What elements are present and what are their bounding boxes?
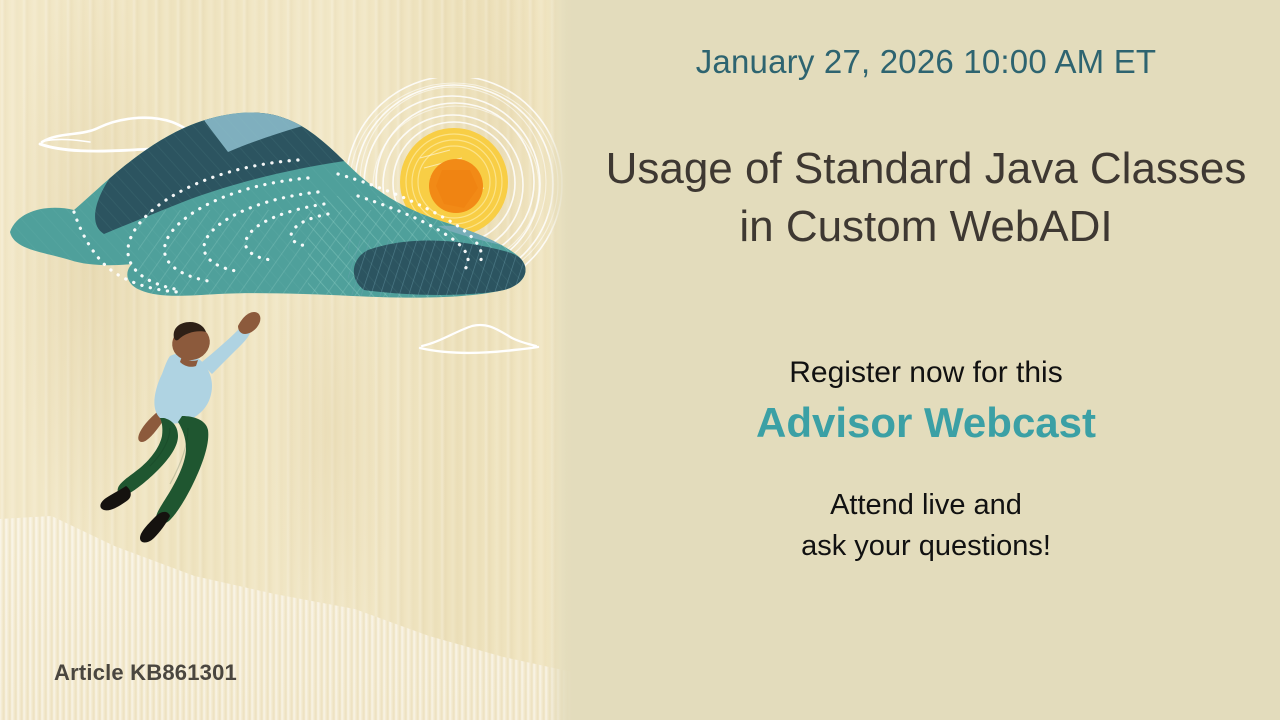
page-title-line-1: Usage of Standard Java Classes xyxy=(576,140,1276,198)
cta-subtext-line-2: ask your questions! xyxy=(572,526,1280,567)
article-number: Article KB861301 xyxy=(54,660,237,686)
wisp-cloud-small-icon xyxy=(414,312,544,364)
webcast-promo-slide: Article KB861301 January 27, 2026 10:00 … xyxy=(0,0,1280,720)
flying-person-illustration xyxy=(78,300,278,550)
cta-subtext: Attend live and ask your questions! xyxy=(572,485,1280,567)
page-title: Usage of Standard Java Classes in Custom… xyxy=(576,140,1276,256)
webcast-datetime: January 27, 2026 10:00 AM ET xyxy=(696,44,1157,80)
cta-headline: Advisor Webcast xyxy=(572,396,1280,451)
cloud-wave-illustration xyxy=(8,100,568,310)
illustration-panel: Article KB861301 xyxy=(0,0,572,720)
content-panel: January 27, 2026 10:00 AM ET Usage of St… xyxy=(572,0,1280,720)
cta-lead-text: Register now for this xyxy=(572,354,1280,392)
page-title-line-2: in Custom WebADI xyxy=(576,198,1276,256)
cta-subtext-line-1: Attend live and xyxy=(572,485,1280,526)
panel-edge-fade xyxy=(546,0,572,720)
call-to-action: Register now for this Advisor Webcast At… xyxy=(572,354,1280,566)
